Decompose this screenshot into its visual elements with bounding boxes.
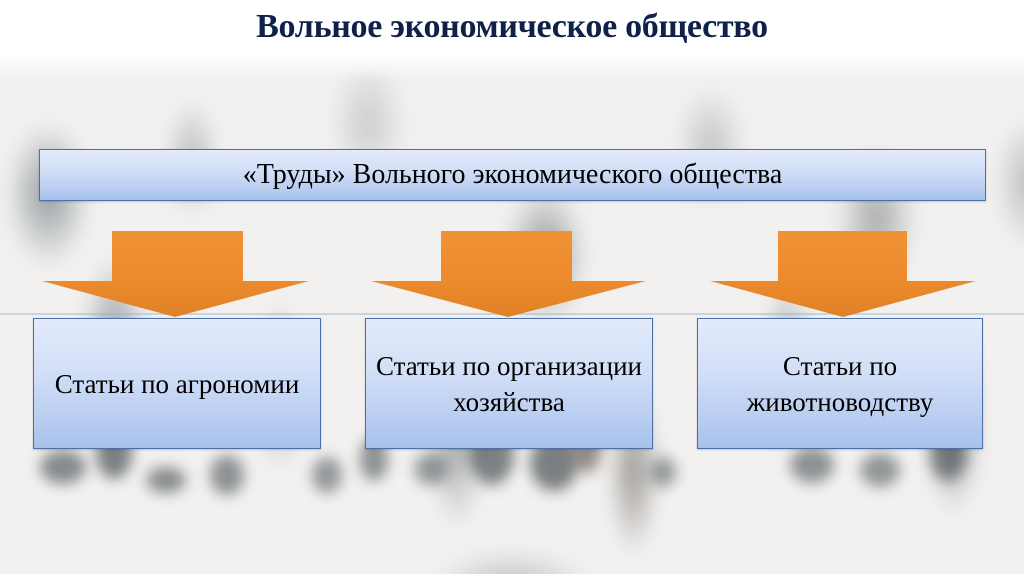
- arrow-to-organization-icon: [371, 231, 646, 317]
- diagram-box-organization[interactable]: Статьи по организации хозяйства: [365, 318, 653, 449]
- background-blob: [146, 467, 186, 493]
- background-blob: [414, 453, 448, 485]
- background-blob: [650, 457, 676, 487]
- background-blob: [210, 455, 244, 495]
- background-blob: [790, 447, 834, 483]
- background-blob: [312, 457, 342, 493]
- diagram-box-agronomy[interactable]: Статьи по агрономии: [33, 318, 321, 449]
- diagram-box-livestock[interactable]: Статьи по животноводству: [697, 318, 983, 449]
- background-blob: [860, 453, 900, 487]
- diagram-root-box[interactable]: «Труды» Вольного экономического общества: [39, 149, 986, 201]
- page-title: Вольное экономическое общество: [0, 7, 1024, 47]
- background-top-fade: [0, 55, 1024, 81]
- background-blob: [40, 450, 86, 484]
- arrow-to-livestock-icon: [710, 231, 976, 317]
- arrow-to-agronomy-icon: [42, 231, 309, 317]
- slide: Вольное экономическое общество «Труды» В…: [0, 0, 1024, 574]
